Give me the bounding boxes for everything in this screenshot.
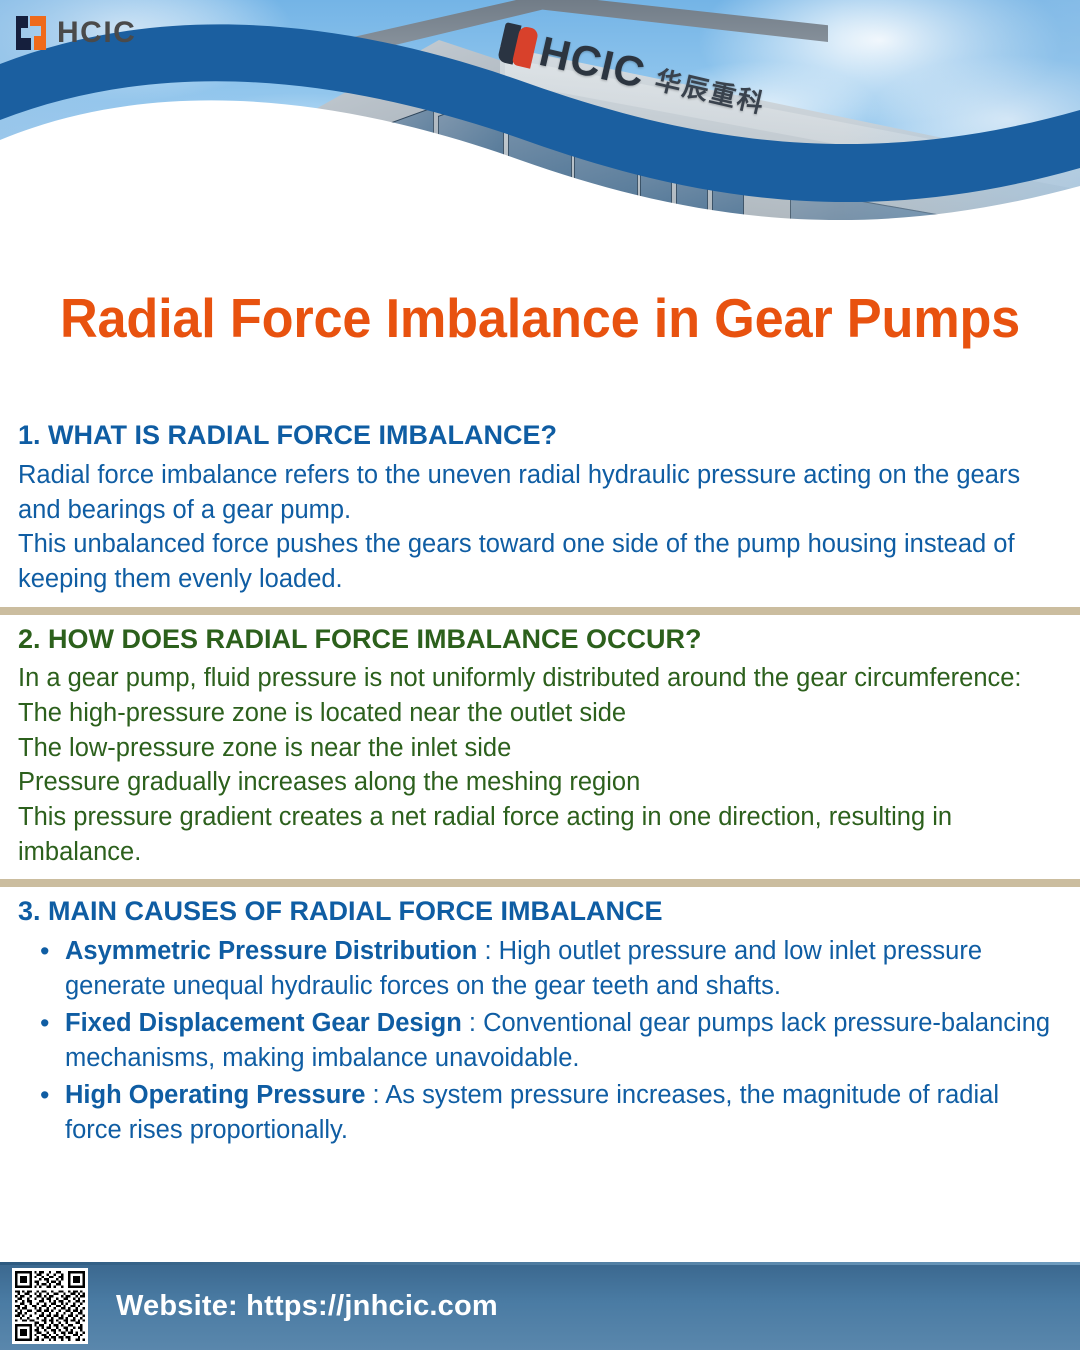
- building-window: [712, 158, 744, 268]
- section-what-is-radial-force-imbalance: 1. WHAT IS RADIAL FORCE IMBALANCE? Radia…: [0, 420, 1080, 597]
- building-window: [372, 107, 434, 262]
- footer-top-rule: [0, 1262, 1080, 1265]
- qr-code-icon[interactable]: [12, 1268, 88, 1344]
- cause-list-item: Fixed Displacement Gear Design : Convent…: [18, 1006, 1062, 1076]
- section-1-heading: 1. WHAT IS RADIAL FORCE IMBALANCE?: [18, 420, 1062, 452]
- building-window: [574, 116, 638, 268]
- building-window: [508, 100, 572, 268]
- section-main-causes: 3. MAIN CAUSES OF RADIAL FORCE IMBALANCE…: [0, 896, 1080, 1147]
- website-label: Website: https://jnhcic.com: [116, 1290, 498, 1323]
- building-window: [438, 92, 504, 268]
- cause-term: High Operating Pressure: [65, 1081, 365, 1109]
- brand-logo: HCIC: [14, 14, 136, 52]
- footer-bar: Website: https://jnhcic.com: [0, 1262, 1080, 1350]
- qr-code-svg: [15, 1271, 85, 1341]
- cause-separator: :: [365, 1081, 385, 1109]
- hero-banner: HCIC 华辰重科: [0, 0, 1080, 268]
- main-causes-list: Asymmetric Pressure Distribution : High …: [18, 934, 1062, 1148]
- section-divider: [0, 879, 1080, 887]
- section-how-does-it-occur: 2. HOW DOES RADIAL FORCE IMBALANCE OCCUR…: [0, 624, 1080, 870]
- building-window: [676, 148, 708, 268]
- cause-list-item: Asymmetric Pressure Distribution : High …: [18, 934, 1062, 1004]
- hcic-mark-svg: [14, 14, 48, 52]
- article-content: 1. WHAT IS RADIAL FORCE IMBALANCE? Radia…: [0, 420, 1080, 1150]
- factory-building-photo: HCIC 华辰重科: [0, 0, 1080, 268]
- cause-list-item: High Operating Pressure : As system pres…: [18, 1078, 1062, 1148]
- section-2-body: In a gear pump, fluid pressure is not un…: [18, 661, 1062, 869]
- cause-term: Fixed Displacement Gear Design: [65, 1009, 462, 1037]
- section-3-heading: 3. MAIN CAUSES OF RADIAL FORCE IMBALANCE: [18, 896, 1062, 928]
- section-2-heading: 2. HOW DOES RADIAL FORCE IMBALANCE OCCUR…: [18, 624, 1062, 656]
- cause-separator: :: [477, 937, 498, 965]
- page-title: Radial Force Imbalance in Gear Pumps: [27, 286, 1053, 350]
- section-divider: [0, 607, 1080, 615]
- section-1-body: Radial force imbalance refers to the une…: [18, 458, 1062, 597]
- hcic-logo-mark-icon: [497, 22, 539, 69]
- hcic-logo-mark-icon: [14, 14, 48, 52]
- brand-name: HCIC: [57, 18, 136, 48]
- cause-separator: :: [462, 1009, 483, 1037]
- cause-term: Asymmetric Pressure Distribution: [65, 937, 477, 965]
- building-window: [640, 138, 672, 268]
